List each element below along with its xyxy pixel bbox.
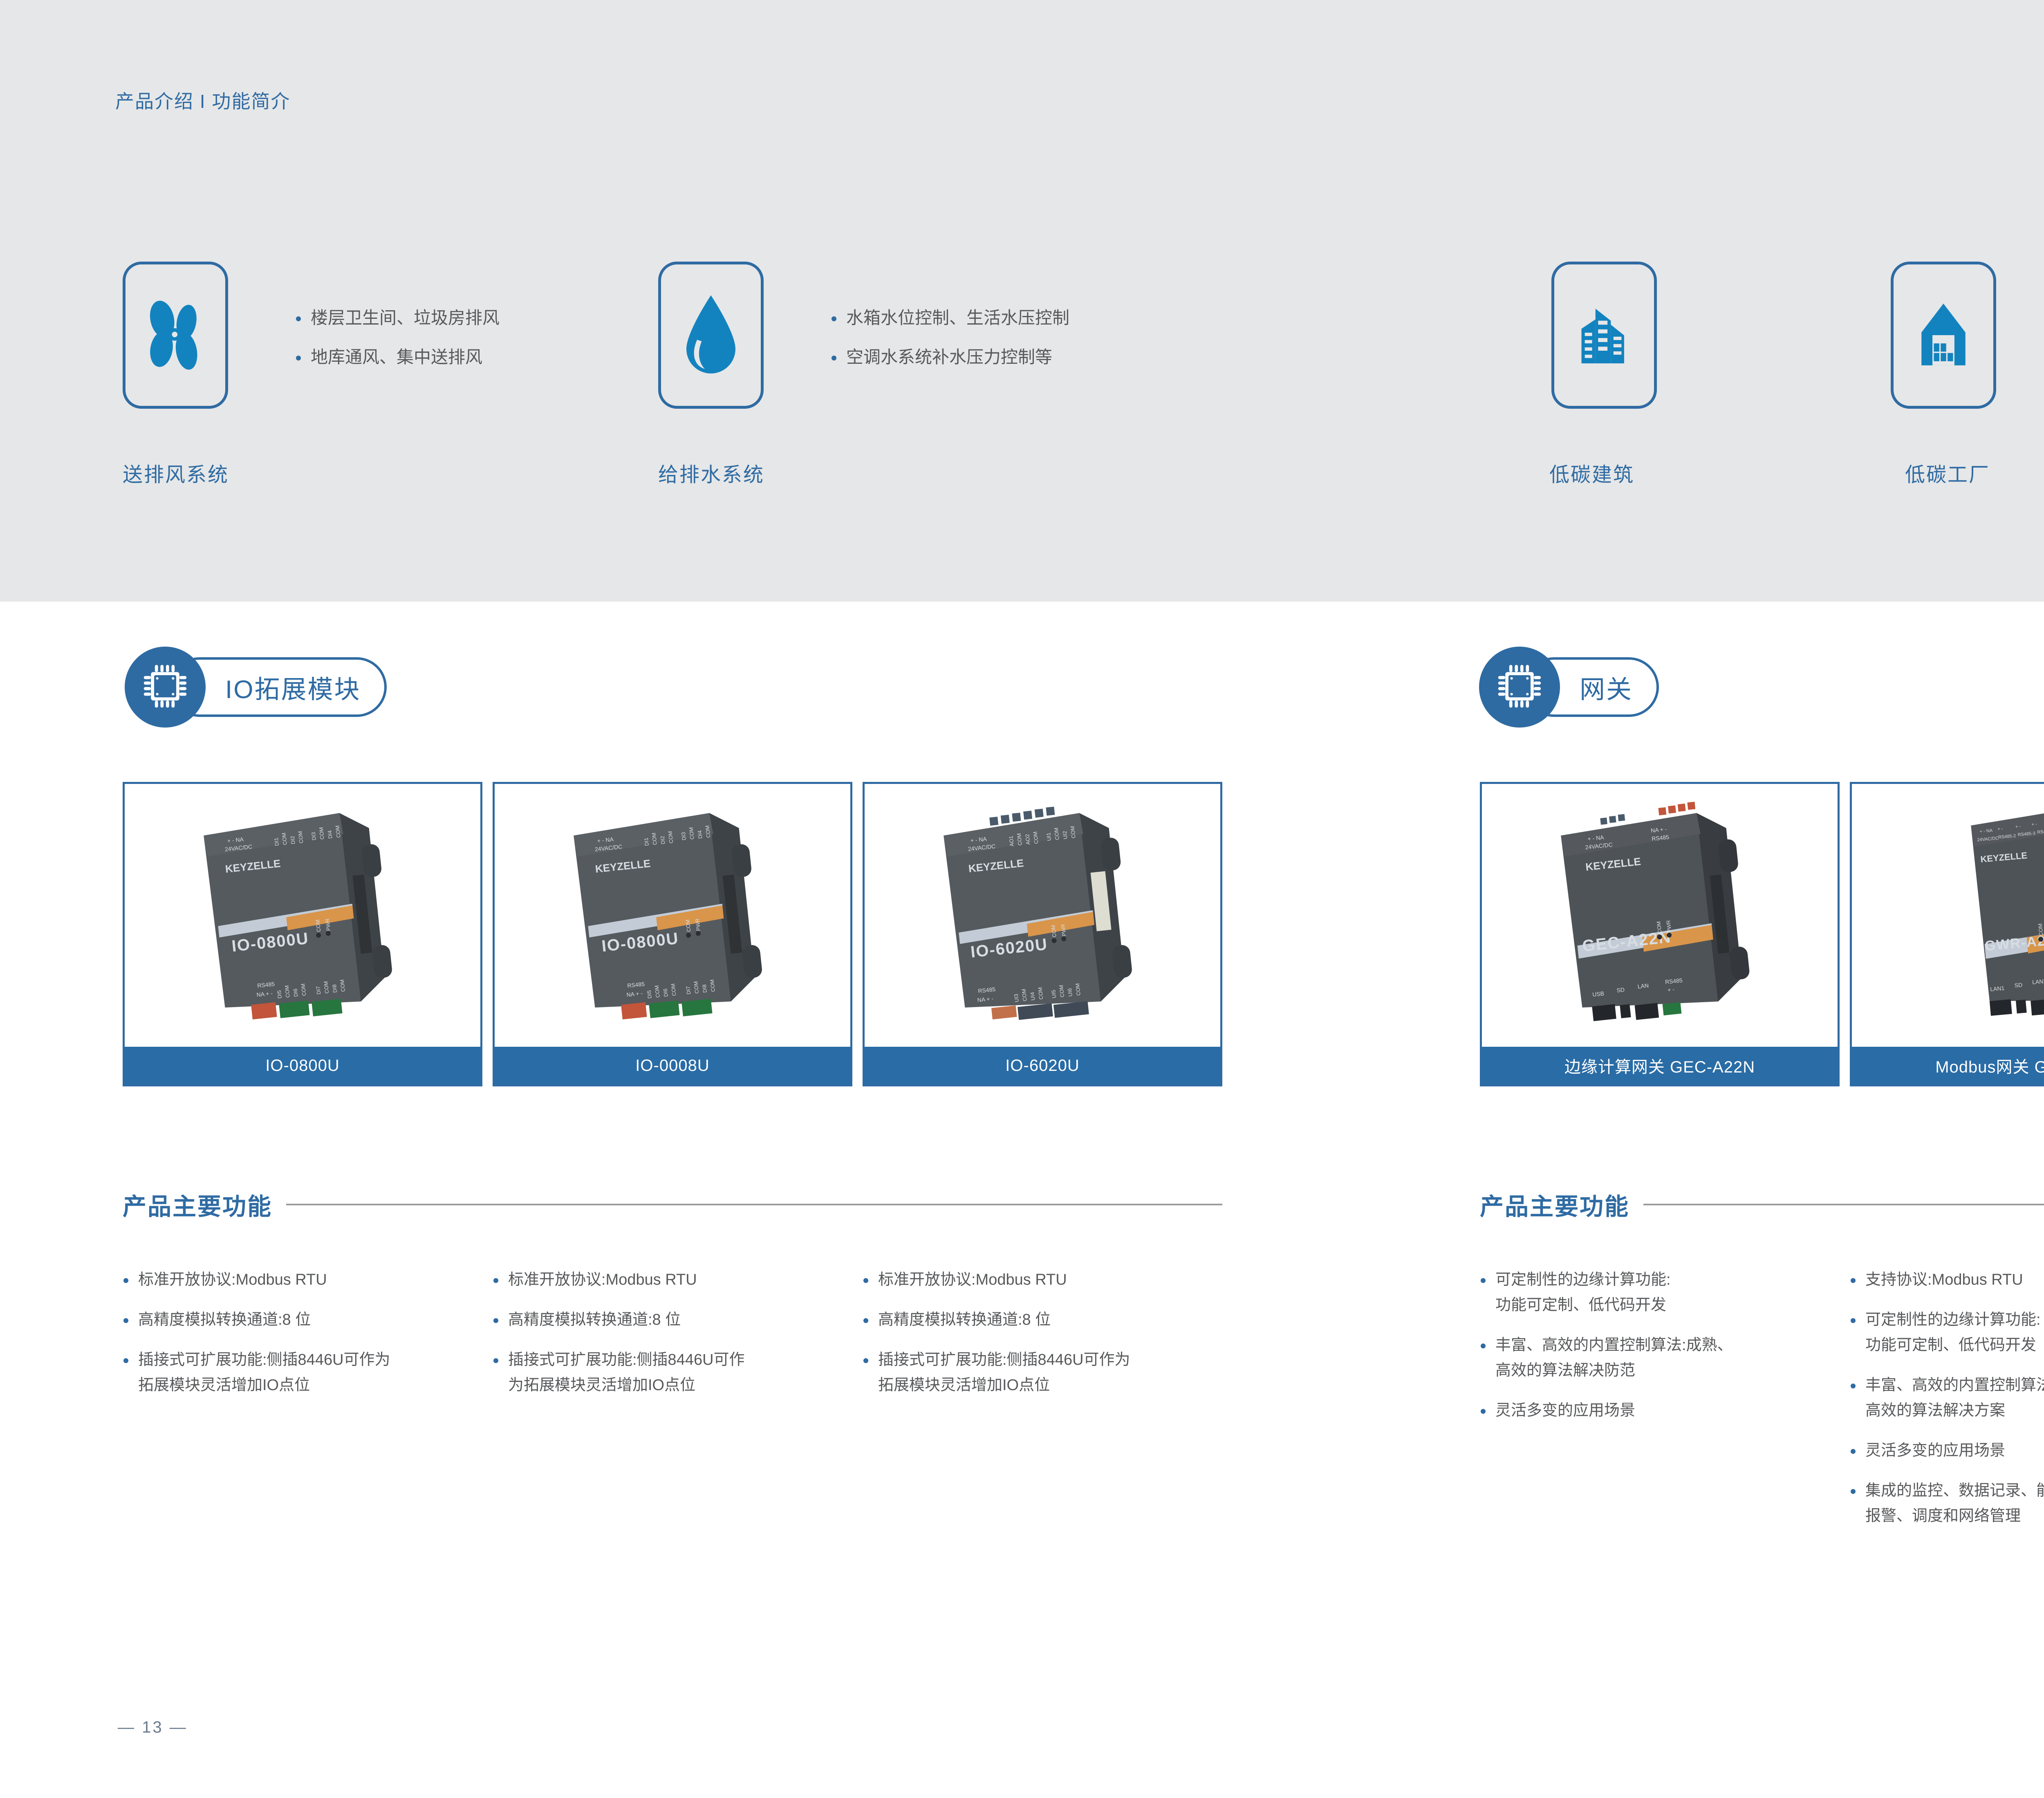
chip-icon-circle bbox=[1479, 647, 1560, 728]
svg-text:COM: COM bbox=[667, 831, 674, 844]
svg-text:COM: COM bbox=[1037, 987, 1044, 1000]
product-photo: + - NA 24VAC/DC KEYZELLE IO-6020U RS485 … bbox=[865, 784, 1220, 1047]
lowcarbon-icon-card-building bbox=[1551, 262, 1657, 409]
svg-text:DI7: DI7 bbox=[315, 985, 322, 994]
feature-item: 丰富、高效的内置控制算法:成熟、 高效的算法解决方案 bbox=[1850, 1373, 2044, 1423]
svg-text:DI2: DI2 bbox=[659, 835, 666, 844]
svg-text:DI6: DI6 bbox=[292, 988, 299, 997]
scenario-icon-card-fan bbox=[123, 262, 228, 409]
svg-text:COM: COM bbox=[323, 981, 330, 994]
product-label: IO-0008U bbox=[495, 1047, 850, 1084]
svg-text:DI1: DI1 bbox=[273, 837, 280, 846]
svg-text:COM: COM bbox=[704, 825, 711, 838]
svg-text:COM: COM bbox=[281, 832, 288, 845]
feature-item: 集成的监控、数据记录、能耗计量、 报警、调度和网络管理 bbox=[1850, 1478, 2044, 1529]
svg-text:COM: COM bbox=[1050, 925, 1058, 938]
svg-text:COM: COM bbox=[297, 831, 304, 844]
svg-text:COM: COM bbox=[1655, 921, 1663, 934]
svg-text:COM: COM bbox=[300, 983, 307, 996]
scenario-bullets-fan: 楼层卫生间、垃圾房排风 地库通风、集中送排风 bbox=[294, 298, 500, 377]
product-label: IO-0800U bbox=[125, 1047, 480, 1084]
feature-column: 标准开放协议:Modbus RTU 高精度模拟转换通道:8 位 插接式可扩展功能… bbox=[863, 1267, 1222, 1413]
chip-icon-circle bbox=[125, 647, 206, 728]
fan-icon bbox=[141, 298, 210, 372]
svg-text:COM: COM bbox=[684, 919, 692, 932]
svg-text:COM: COM bbox=[1074, 983, 1082, 996]
factory-icon bbox=[1915, 301, 1972, 369]
svg-text:DI8: DI8 bbox=[331, 984, 338, 993]
product-photo: + - NA 24VAC/DC KEYZELLE IO-0800U RS485 … bbox=[125, 784, 480, 1047]
feature-column: 可定制性的边缘计算功能: 功能可定制、低代码开发 丰富、高效的内置控制算法:成熟… bbox=[1480, 1267, 1840, 1438]
product-label: Modbus网关 GWR-A25N bbox=[1852, 1047, 2044, 1084]
section-badge-label: IO拓展模块 bbox=[225, 669, 361, 705]
svg-text:UI5: UI5 bbox=[1050, 990, 1057, 999]
section-badge-gateway: 网关 bbox=[1479, 647, 1741, 728]
svg-text:UI4: UI4 bbox=[1029, 992, 1036, 1001]
svg-text:DI4: DI4 bbox=[327, 830, 334, 839]
svg-text:COM: COM bbox=[1016, 833, 1023, 846]
svg-text:COM: COM bbox=[1021, 988, 1028, 1001]
scenario-icon-card-water bbox=[658, 262, 764, 409]
brochure-spread: 产品介绍 I 功能简介 产品介绍 I 功能简介 楼层卫生间、垃圾房排风 地库通风… bbox=[0, 0, 2044, 1798]
page-number-left: — 13 — bbox=[118, 1718, 188, 1737]
feature-item: 高精度模拟转换通道:8 位 bbox=[863, 1307, 1222, 1332]
office-building-icon bbox=[1573, 302, 1635, 369]
svg-text:DI2: DI2 bbox=[289, 835, 296, 844]
svg-text:COM: COM bbox=[654, 985, 661, 998]
lowcarbon-icon-card-factory bbox=[1891, 262, 1996, 409]
svg-text:COM: COM bbox=[651, 832, 658, 845]
feature-item: 插接式可扩展功能:侧插8446U可作为 拓展模块灵活增加IO点位 bbox=[123, 1347, 482, 1398]
svg-text:SD: SD bbox=[1616, 986, 1625, 994]
svg-text:DI6: DI6 bbox=[662, 988, 669, 997]
svg-text:DI4: DI4 bbox=[697, 830, 704, 839]
heading-rule bbox=[1643, 1204, 2044, 1205]
svg-text:PWR: PWR bbox=[1060, 923, 1067, 936]
feature-column: 支持协议:Modbus RTU 可定制性的边缘计算功能: 功能可定制、低代码开发… bbox=[1850, 1267, 2044, 1543]
product-card[interactable]: + - NA+ - + -+ -+ - 24VAC/DCRS485-2 RS48… bbox=[1850, 782, 2044, 1086]
product-photo: + - NA+ - + -+ -+ - 24VAC/DCRS485-2 RS48… bbox=[1852, 784, 2044, 1047]
scenario-caption-water: 给排水系统 bbox=[658, 459, 764, 488]
product-label: IO-6020U bbox=[865, 1047, 1220, 1084]
svg-text:DI5: DI5 bbox=[646, 990, 653, 999]
feature-column: 标准开放协议:Modbus RTU 高精度模拟转换通道:8 位 插接式可扩展功能… bbox=[123, 1267, 482, 1413]
svg-text:COM: COM bbox=[284, 985, 291, 998]
svg-text:COM: COM bbox=[314, 919, 322, 932]
svg-text:COM: COM bbox=[1058, 985, 1065, 998]
scenario-caption-fan: 送排风系统 bbox=[123, 459, 229, 488]
bullet-item: 楼层卫生间、垃圾房排风 bbox=[294, 298, 500, 338]
running-header-left: 产品介绍 I 功能简介 bbox=[115, 87, 290, 114]
bullet-item: 空调水系统补水压力控制等 bbox=[830, 338, 1069, 377]
svg-text:COM: COM bbox=[2037, 923, 2044, 936]
svg-text:LAN1: LAN1 bbox=[1990, 985, 2005, 992]
svg-text:AO2: AO2 bbox=[1024, 834, 1031, 845]
bullet-item: 水箱水位控制、生活水压控制 bbox=[830, 298, 1069, 338]
svg-text:DI8: DI8 bbox=[701, 984, 708, 993]
svg-text:COM: COM bbox=[688, 826, 695, 840]
svg-text:+ -: + - bbox=[2015, 824, 2021, 829]
feature-item: 插接式可扩展功能:侧插8446U可作 为拓展模块灵活增加IO点位 bbox=[493, 1347, 852, 1398]
svg-text:UI6: UI6 bbox=[1067, 988, 1074, 997]
product-card[interactable]: + - NA 24VAC/DC NA + - RS485 KEYZELLE GE… bbox=[1480, 782, 1840, 1086]
svg-text:COM: COM bbox=[1069, 826, 1077, 839]
svg-text:LAN: LAN bbox=[1637, 982, 1649, 990]
lowcarbon-caption-building: 低碳建筑 bbox=[1549, 459, 1634, 488]
svg-text:UI2: UI2 bbox=[1062, 831, 1069, 840]
svg-text:COM: COM bbox=[693, 981, 700, 994]
scenario-bullets-water: 水箱水位控制、生活水压控制 空调水系统补水压力控制等 bbox=[830, 298, 1069, 377]
svg-text:PWR: PWR bbox=[324, 918, 332, 931]
feature-item: 可定制性的边缘计算功能: 功能可定制、低代码开发 bbox=[1850, 1307, 2044, 1358]
functions-heading-io: 产品主要功能 bbox=[123, 1187, 1222, 1222]
svg-text:DI3: DI3 bbox=[680, 832, 687, 841]
feature-item: 可定制性的边缘计算功能: 功能可定制、低代码开发 bbox=[1480, 1267, 1840, 1318]
svg-text:COM: COM bbox=[709, 979, 716, 992]
svg-text:+ -: + - bbox=[1667, 986, 1675, 993]
svg-text:SD: SD bbox=[2014, 981, 2023, 989]
product-card[interactable]: + - NA 24VAC/DC KEYZELLE IO-6020U RS485 … bbox=[863, 782, 1222, 1086]
feature-item: 支持协议:Modbus RTU bbox=[1850, 1267, 2044, 1292]
svg-text:+ -: + - bbox=[1997, 826, 2003, 831]
svg-text:PWR: PWR bbox=[1665, 920, 1672, 933]
product-photo: + - NA 24VAC/DC NA + - RS485 KEYZELLE GE… bbox=[1482, 784, 1838, 1047]
chip-icon bbox=[1496, 663, 1543, 712]
feature-item: 灵活多变的应用场景 bbox=[1480, 1398, 1840, 1423]
svg-text:UI3: UI3 bbox=[1013, 993, 1020, 1002]
svg-text:COM: COM bbox=[334, 825, 341, 838]
svg-text:DI1: DI1 bbox=[643, 837, 650, 846]
svg-text:DI7: DI7 bbox=[685, 985, 692, 994]
product-card[interactable]: + - NA 24VAC/DC KEYZELLE IO-0800U RS485 … bbox=[123, 782, 482, 1086]
feature-item: 标准开放协议:Modbus RTU bbox=[863, 1267, 1222, 1292]
product-label: 边缘计算网关 GEC-A22N bbox=[1482, 1047, 1838, 1084]
feature-item: 插接式可扩展功能:侧插8446U可作为 拓展模块灵活增加IO点位 bbox=[863, 1347, 1222, 1398]
section-badge-io: IO拓展模块 bbox=[125, 647, 435, 728]
lowcarbon-caption-factory: 低碳工厂 bbox=[1905, 459, 1990, 488]
svg-text:USB: USB bbox=[1592, 990, 1604, 998]
water-drop-icon bbox=[680, 292, 742, 378]
svg-text:UI1: UI1 bbox=[1045, 832, 1052, 841]
heading-rule bbox=[286, 1204, 1222, 1205]
chip-icon bbox=[141, 663, 189, 712]
feature-item: 丰富、高效的内置控制算法:成熟、 高效的算法解决防范 bbox=[1480, 1332, 1840, 1383]
feature-item: 高精度模拟转换通道:8 位 bbox=[123, 1307, 482, 1332]
svg-text:DI3: DI3 bbox=[310, 832, 317, 841]
svg-text:+ -: + - bbox=[2031, 822, 2037, 827]
svg-text:COM: COM bbox=[339, 979, 346, 992]
section-badge-label: 网关 bbox=[1580, 669, 1633, 705]
svg-text:COM: COM bbox=[670, 983, 677, 996]
functions-title: 产品主要功能 bbox=[123, 1187, 272, 1222]
svg-text:AO1: AO1 bbox=[1008, 835, 1015, 846]
svg-text:LAN2: LAN2 bbox=[2032, 978, 2044, 985]
bullet-item: 地库通风、集中送排风 bbox=[294, 338, 500, 377]
svg-text:COM: COM bbox=[1032, 831, 1039, 844]
product-photo: + - NA 24VAC/DC KEYZELLE IO-0800U RS485 … bbox=[495, 784, 850, 1047]
functions-title: 产品主要功能 bbox=[1480, 1187, 1629, 1222]
product-card[interactable]: + - NA 24VAC/DC KEYZELLE IO-0800U RS485 … bbox=[493, 782, 852, 1086]
feature-column: 标准开放协议:Modbus RTU 高精度模拟转换通道:8 位 插接式可扩展功能… bbox=[493, 1267, 852, 1413]
svg-text:COM: COM bbox=[318, 826, 325, 840]
svg-text:COM: COM bbox=[1053, 827, 1060, 840]
svg-text:DI5: DI5 bbox=[276, 990, 283, 999]
svg-text:PWR: PWR bbox=[694, 918, 702, 931]
feature-item: 标准开放协议:Modbus RTU bbox=[493, 1267, 852, 1292]
feature-item: 标准开放协议:Modbus RTU bbox=[123, 1267, 482, 1292]
functions-heading-gateway: 产品主要功能 bbox=[1480, 1187, 2044, 1222]
feature-item: 高精度模拟转换通道:8 位 bbox=[493, 1307, 852, 1332]
feature-item: 灵活多变的应用场景 bbox=[1850, 1438, 2044, 1463]
